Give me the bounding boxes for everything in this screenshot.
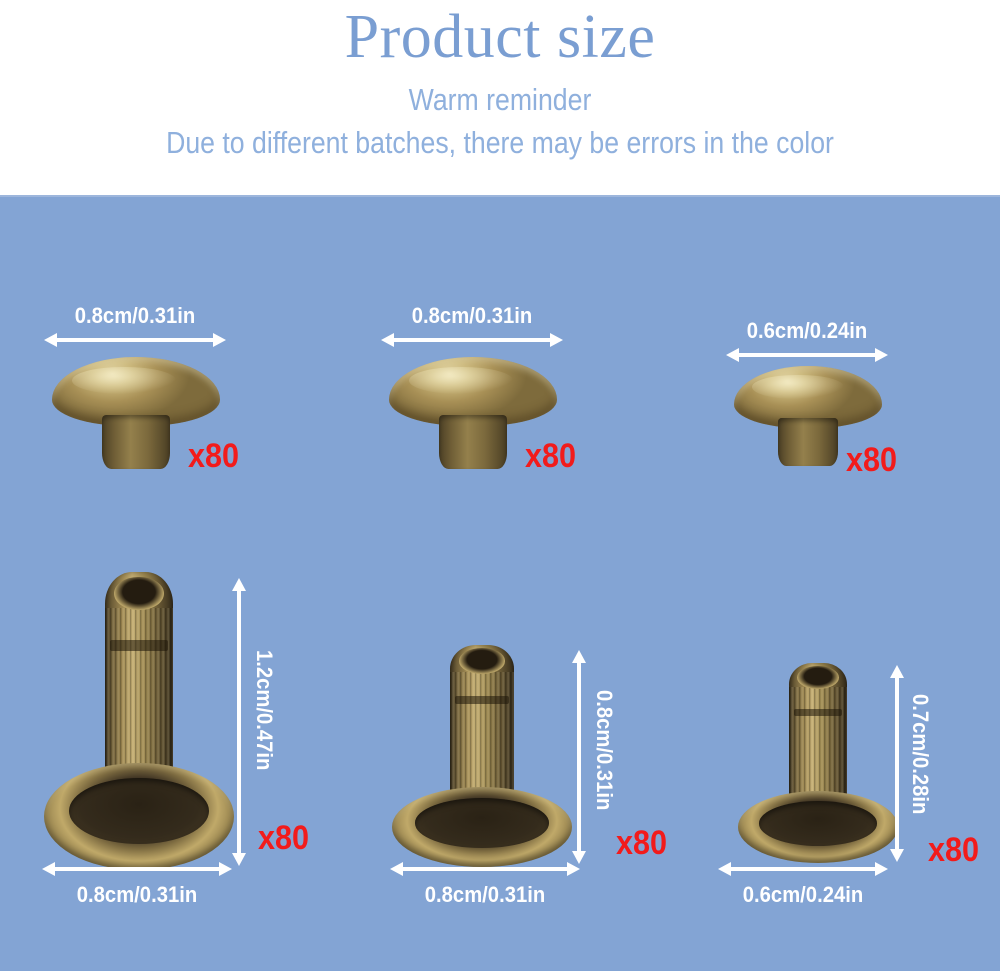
stud-large-image bbox=[44, 572, 234, 870]
stud-base-well bbox=[415, 798, 548, 848]
stud-medium-width-label: 0.8cm/0.31in bbox=[394, 882, 576, 908]
cap-medium-width-arrow bbox=[381, 333, 563, 347]
arrow-head-right-icon bbox=[875, 348, 888, 362]
stud-hollow-rim bbox=[459, 648, 506, 673]
arrow-head-right-icon bbox=[875, 862, 888, 876]
cap-large-width-arrow bbox=[44, 333, 226, 347]
arrow-bar bbox=[237, 585, 241, 859]
stud-base-disc bbox=[392, 787, 572, 867]
cap-medium-quantity: x80 bbox=[525, 438, 576, 474]
stud-large-height-label: 1.2cm/0.47in bbox=[252, 650, 276, 770]
stud-large-width-label: 0.8cm/0.31in bbox=[46, 882, 228, 908]
arrow-bar bbox=[388, 338, 556, 342]
arrow-head-down-icon bbox=[232, 853, 246, 866]
stud-base-disc bbox=[738, 791, 898, 863]
product-size-infographic: Product size Warm reminder Due to differ… bbox=[0, 0, 1000, 971]
cap-medium-width-label: 0.8cm/0.31in bbox=[385, 303, 560, 329]
arrow-bar bbox=[577, 657, 581, 857]
arrow-head-right-icon bbox=[567, 862, 580, 876]
stud-band bbox=[455, 696, 509, 704]
stud-base-disc bbox=[44, 763, 234, 870]
arrow-bar bbox=[895, 672, 899, 855]
cap-large-quantity: x80 bbox=[188, 438, 239, 474]
stud-medium-quantity: x80 bbox=[616, 825, 667, 861]
panel-top-divider bbox=[0, 195, 1000, 197]
page-title: Product size bbox=[0, 0, 1000, 76]
warm-reminder-text: Due to different batches, there may be e… bbox=[70, 123, 930, 163]
stud-base-well bbox=[759, 801, 877, 846]
stud-large-height-arrow bbox=[232, 578, 246, 866]
stud-large-quantity: x80 bbox=[258, 820, 309, 856]
arrow-head-right-icon bbox=[550, 333, 563, 347]
stud-band bbox=[794, 709, 842, 717]
cap-large-width-label: 0.8cm/0.31in bbox=[48, 303, 223, 329]
stud-band bbox=[110, 640, 167, 651]
warm-reminder-label: Warm reminder bbox=[70, 80, 930, 120]
cap-small-width-label: 0.6cm/0.24in bbox=[729, 318, 885, 344]
stud-hollow-rim bbox=[797, 666, 838, 689]
stud-base-well bbox=[69, 778, 210, 845]
arrow-bar bbox=[733, 353, 881, 357]
cap-small-quantity: x80 bbox=[846, 442, 897, 478]
cap-post bbox=[439, 415, 506, 469]
stud-medium-height-label: 0.8cm/0.31in bbox=[592, 690, 616, 810]
stud-hollow-rim bbox=[114, 577, 163, 611]
cap-post bbox=[778, 418, 837, 466]
arrow-head-right-icon bbox=[213, 333, 226, 347]
stud-large-width-arrow bbox=[42, 862, 232, 876]
stud-medium-width-arrow bbox=[390, 862, 580, 876]
stud-small-height-arrow bbox=[890, 665, 904, 862]
arrow-bar bbox=[49, 867, 225, 871]
arrow-head-down-icon bbox=[890, 849, 904, 862]
arrow-head-right-icon bbox=[219, 862, 232, 876]
stud-small-width-arrow bbox=[718, 862, 888, 876]
stud-small-quantity: x80 bbox=[928, 832, 979, 868]
stud-small-width-label: 0.6cm/0.24in bbox=[721, 882, 885, 908]
cap-small-width-arrow bbox=[726, 348, 888, 362]
cap-post bbox=[102, 415, 169, 469]
arrow-bar bbox=[51, 338, 219, 342]
arrow-bar bbox=[725, 867, 881, 871]
stud-small-height-label: 0.7cm/0.28in bbox=[908, 694, 932, 814]
stud-small-image bbox=[738, 663, 898, 863]
arrow-bar bbox=[397, 867, 573, 871]
stud-medium-height-arrow bbox=[572, 650, 586, 864]
stud-medium-image bbox=[392, 645, 572, 867]
header-band: Product size Warm reminder Due to differ… bbox=[0, 0, 1000, 195]
